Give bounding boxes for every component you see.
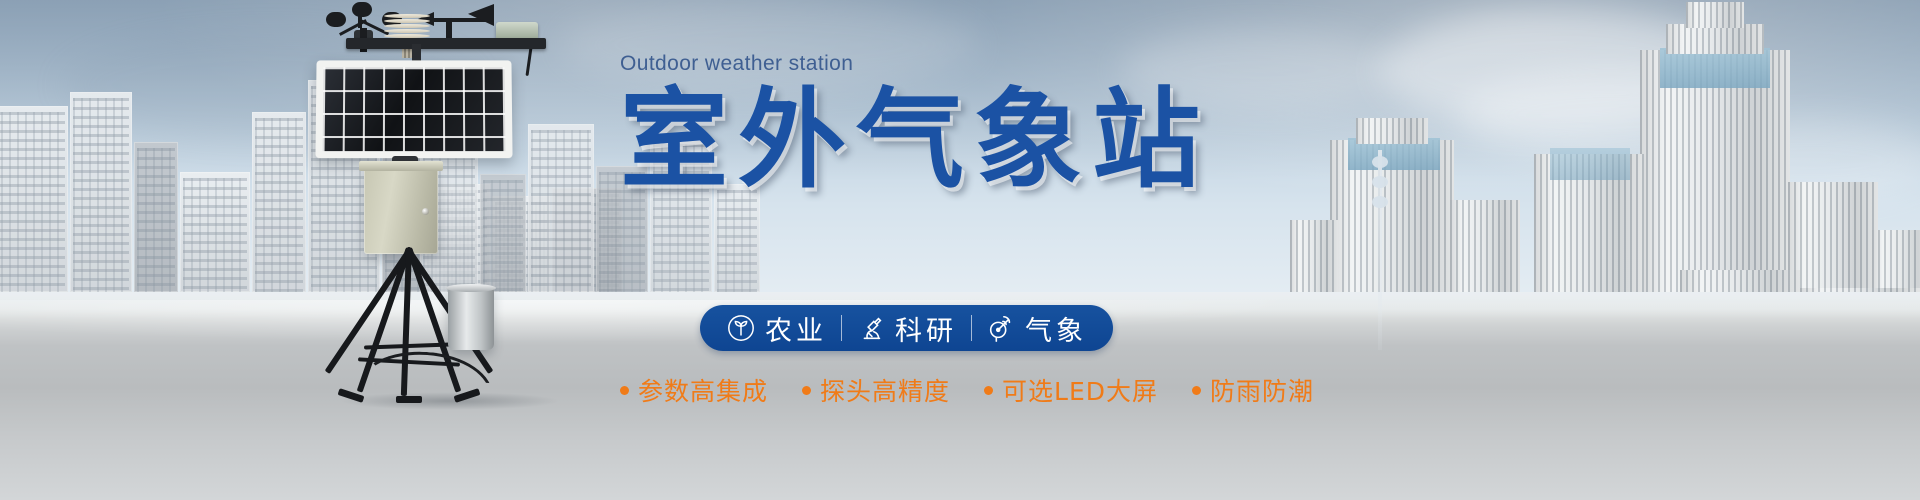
- pill-item-meteorology: 气象: [986, 309, 1087, 348]
- cross-arm: [346, 38, 546, 49]
- antenna-mast-icon: [1378, 150, 1382, 350]
- feature-bullet-label: 探头高精度: [820, 372, 950, 408]
- eyebrow-text: Outdoor weather station: [620, 52, 1320, 76]
- bullet-dot-icon: [984, 386, 993, 395]
- microscope-icon: [856, 313, 886, 343]
- pill-item-agriculture: 农业: [726, 309, 827, 348]
- feature-bullet-label: 防雨防潮: [1210, 372, 1314, 408]
- pill-separator: [971, 315, 972, 341]
- pill-separator: [841, 315, 842, 341]
- outdoor-weather-station-rig: [300, 0, 560, 420]
- feature-bullet: 参数高集成: [620, 372, 768, 408]
- application-pill: 农业 科研: [700, 305, 1113, 351]
- feature-bullet-label: 可选LED大屏: [1002, 372, 1158, 408]
- bullet-dot-icon: [802, 386, 811, 395]
- feature-bullet: 可选LED大屏: [984, 372, 1158, 408]
- page-title: 室外气象站: [620, 84, 1320, 198]
- solar-panel-icon: [315, 60, 512, 158]
- rain-gauge-icon: [448, 288, 494, 350]
- pill-label-research: 科研: [895, 309, 957, 348]
- feature-bullet-label: 参数高集成: [638, 372, 768, 408]
- pill-label-meteorology: 气象: [1025, 309, 1087, 348]
- satellite-dish-icon: [986, 313, 1016, 343]
- pill-item-research: 科研: [856, 309, 957, 348]
- pill-label-agriculture: 农业: [765, 309, 827, 348]
- bullet-dot-icon: [620, 386, 629, 395]
- bullet-dot-icon: [1192, 386, 1201, 395]
- feature-bullet: 防雨防潮: [1192, 372, 1314, 408]
- outdoor-weather-station-banner: Outdoor weather station 室外气象站 农业: [0, 0, 1920, 500]
- headline-block: Outdoor weather station 室外气象站: [620, 52, 1320, 198]
- feature-bullets: 参数高集成 探头高精度 可选LED大屏 防雨防潮: [620, 372, 1314, 408]
- control-cabinet-icon: [364, 168, 438, 254]
- plant-sprout-icon: [726, 313, 756, 343]
- cabinet-lock-icon: [422, 208, 429, 215]
- feature-bullet: 探头高精度: [802, 372, 950, 408]
